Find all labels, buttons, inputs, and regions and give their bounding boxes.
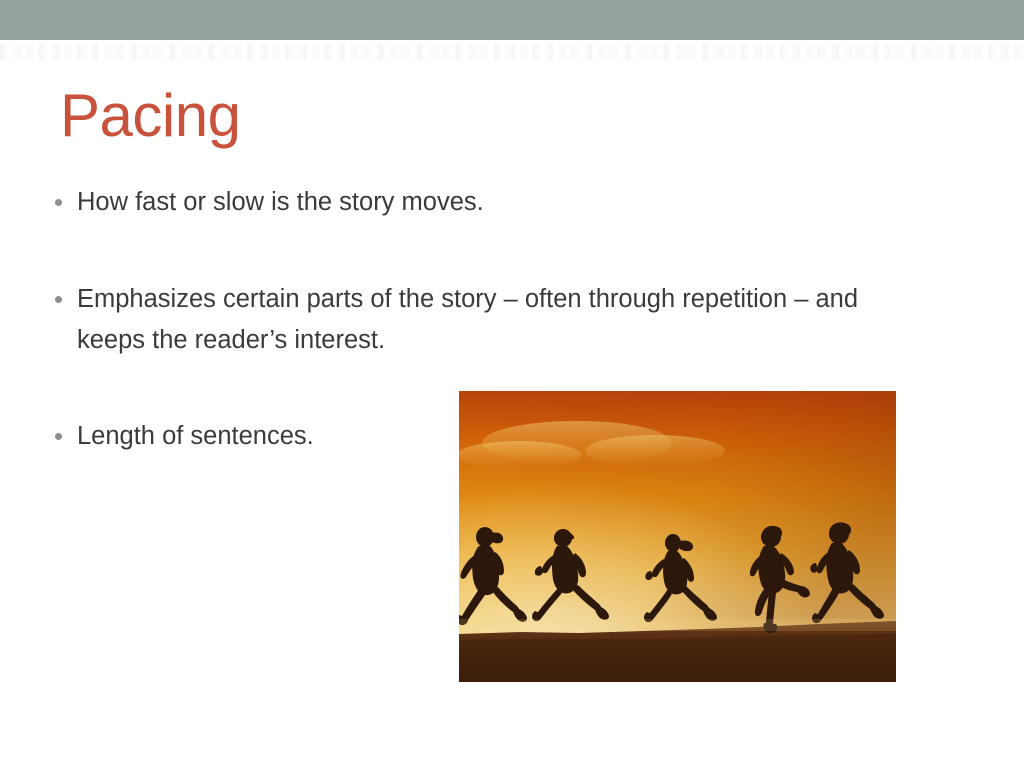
bullet-dot-icon	[55, 296, 62, 303]
bullet-dot-icon	[55, 433, 62, 440]
bullet-item: How fast or slow is the story moves.	[55, 182, 915, 223]
runners-sunset-illustration	[459, 391, 896, 682]
bullet-text: How fast or slow is the story moves.	[77, 182, 915, 223]
runners-sunset-photo	[459, 391, 896, 682]
slide-title: Pacing	[60, 82, 240, 150]
decorative-texture-band	[0, 44, 1024, 60]
bullet-text: Emphasizes certain parts of the story – …	[77, 279, 915, 361]
slide-canvas: Pacing How fast or slow is the story mov…	[0, 0, 1024, 768]
header-accent-bar	[0, 0, 1024, 40]
bullet-item: Emphasizes certain parts of the story – …	[55, 279, 915, 361]
bullet-dot-icon	[55, 199, 62, 206]
